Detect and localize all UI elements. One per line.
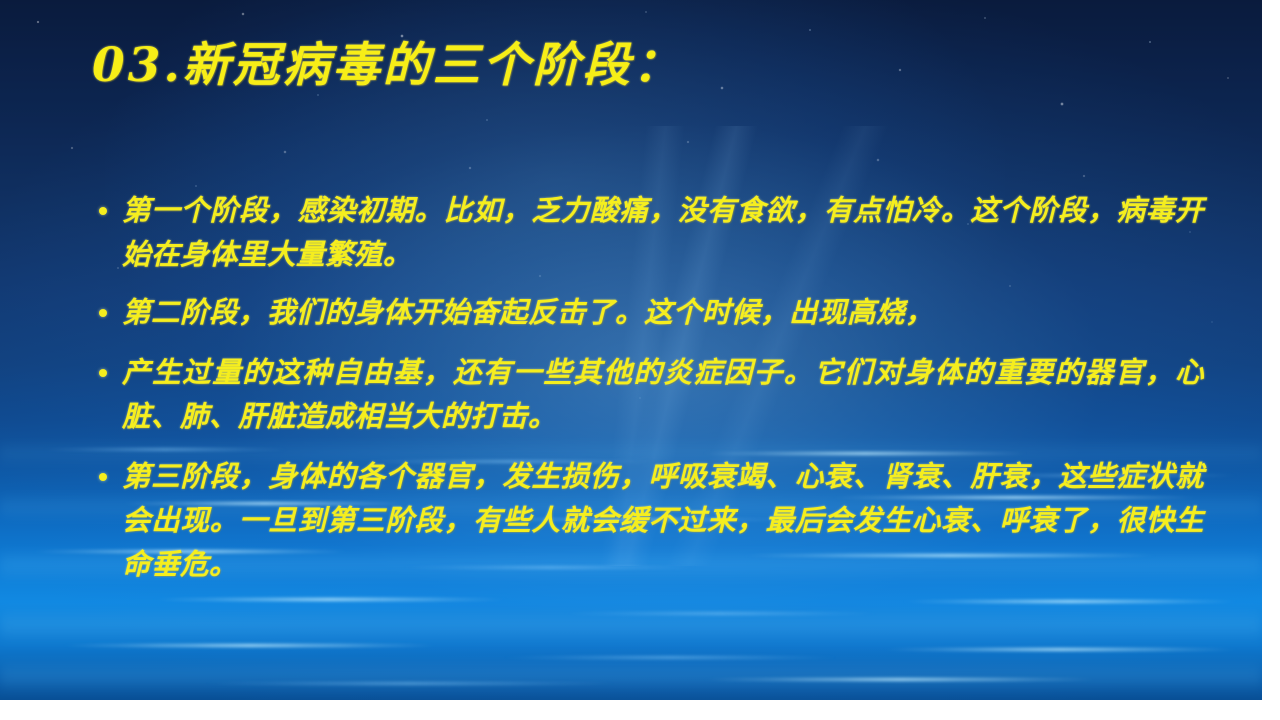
- slide-content: 03.新冠病毒的三个阶段： 第一个阶段，感染初期。比如，乏力酸痛，没有食欲，有点…: [0, 0, 1262, 700]
- slide-bottom-margin: [0, 700, 1280, 720]
- bullet-item-2: 第二阶段，我们的身体开始奋起反击了。这个时候，出现高烧，: [96, 290, 1204, 334]
- slide-right-margin: [1262, 0, 1280, 720]
- bullet-item-3: 产生过量的这种自由基，还有一些其他的炎症因子。它们对身体的重要的器官，心脏、肺、…: [96, 350, 1204, 438]
- slide-title: 03.新冠病毒的三个阶段：: [92, 26, 683, 95]
- bullet-item-4: 第三阶段，身体的各个器官，发生损伤，呼吸衰竭、心衰、肾衰、肝衰，这些症状就会出现…: [96, 454, 1204, 586]
- bullet-item-1: 第一个阶段，感染初期。比如，乏力酸痛，没有食欲，有点怕冷。这个阶段，病毒开始在身…: [96, 188, 1204, 276]
- presentation-slide: 03.新冠病毒的三个阶段： 第一个阶段，感染初期。比如，乏力酸痛，没有食欲，有点…: [0, 0, 1280, 720]
- bullet-list: 第一个阶段，感染初期。比如，乏力酸痛，没有食欲，有点怕冷。这个阶段，病毒开始在身…: [96, 188, 1204, 586]
